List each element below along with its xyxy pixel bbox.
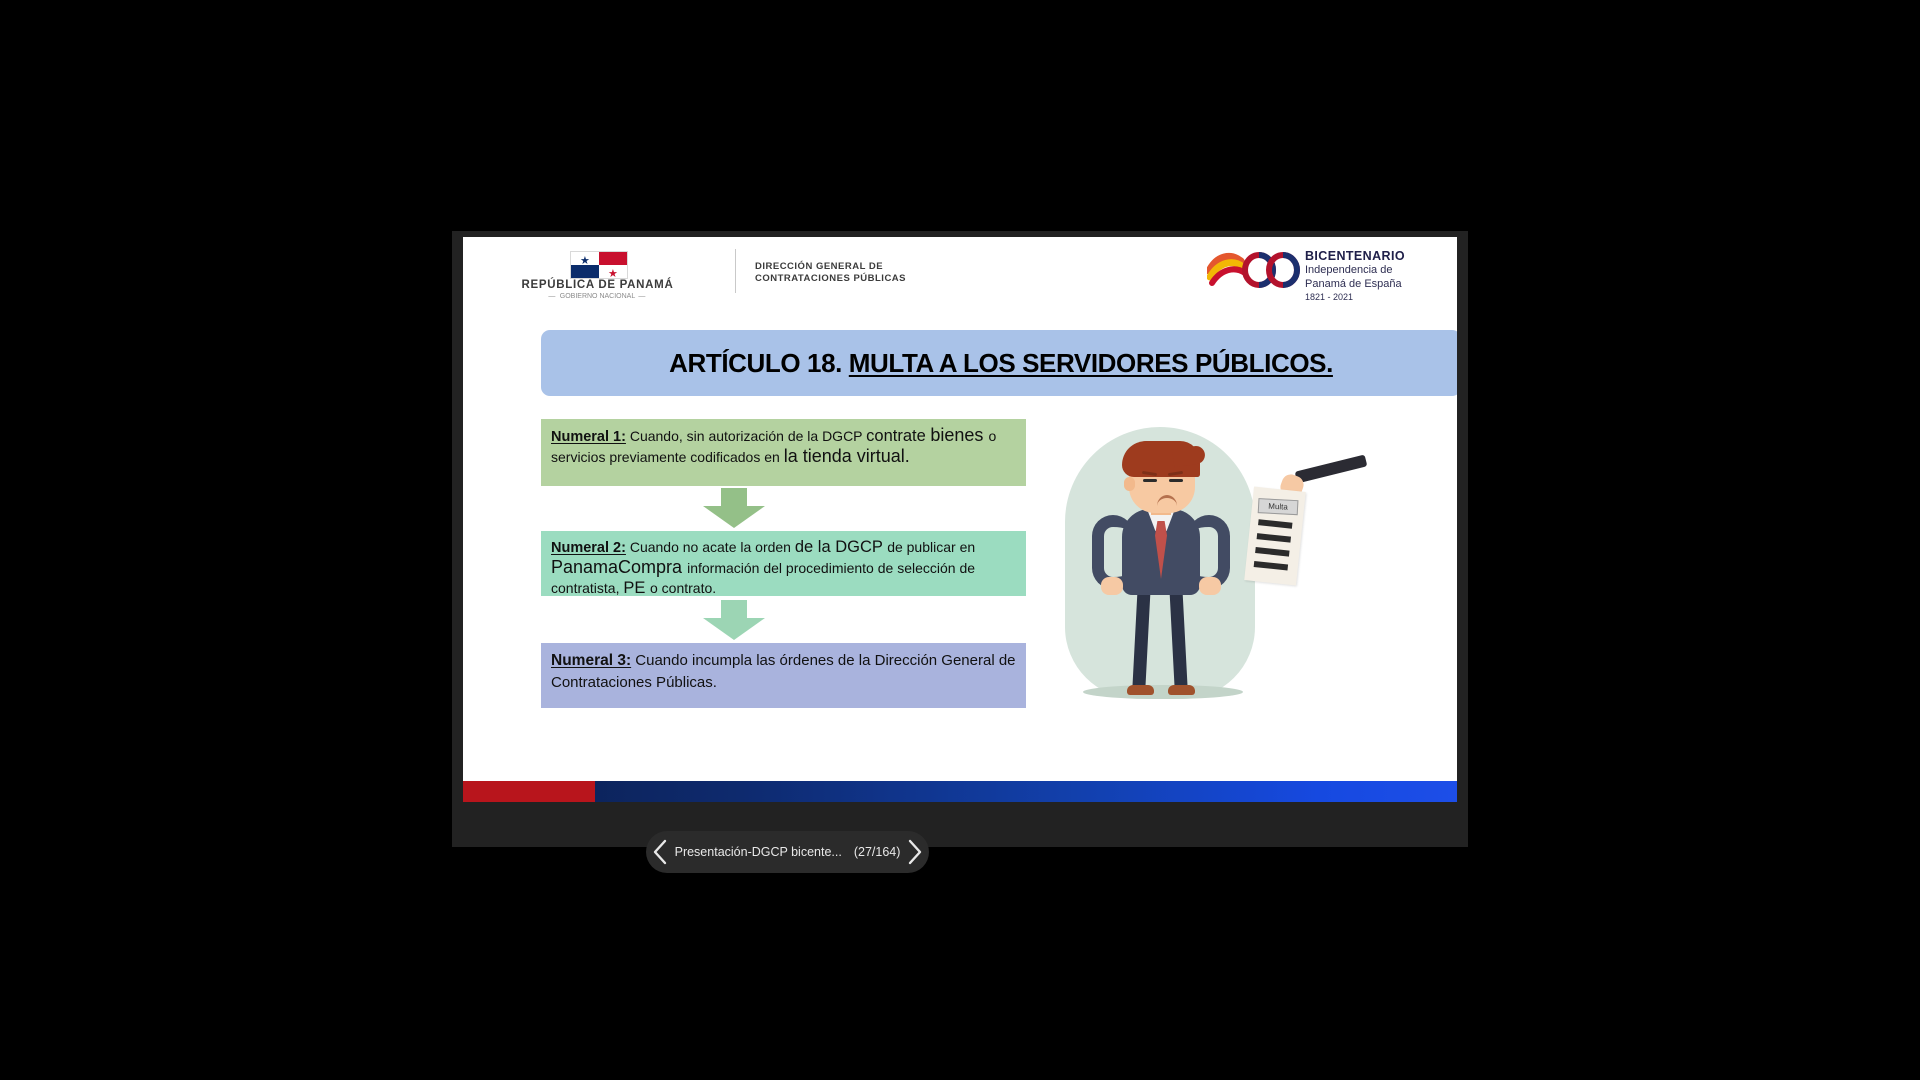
slide-footer-bar bbox=[463, 781, 1457, 802]
panama-government-logo: ★ ★ REPÚBLICA DE PANAMÁ — GOBIERNO NACIO… bbox=[475, 249, 720, 301]
figure-eye-right bbox=[1169, 479, 1183, 482]
next-page-button[interactable] bbox=[900, 831, 929, 873]
bicentenario-years: 1821 - 2021 bbox=[1305, 292, 1405, 302]
agency-line-1: DIRECCIÓN GENERAL DE bbox=[755, 261, 906, 273]
ticket-line-1 bbox=[1258, 519, 1292, 529]
panama-flag-icon: ★ ★ bbox=[570, 251, 628, 279]
illustration-sad-businessman: Multa bbox=[1023, 417, 1353, 732]
slide-header: ★ ★ REPÚBLICA DE PANAMÁ — GOBIERNO NACIO… bbox=[463, 237, 1457, 309]
ticket-multa-label: Multa bbox=[1258, 498, 1299, 515]
figure-shoe-right bbox=[1168, 685, 1195, 695]
figure-ear bbox=[1124, 477, 1135, 491]
agency-name: DIRECCIÓN GENERAL DE CONTRATACIONES PÚBL… bbox=[755, 261, 906, 285]
slide-canvas: ★ ★ REPÚBLICA DE PANAMÁ — GOBIERNO NACIO… bbox=[463, 237, 1457, 802]
figure-hand-left bbox=[1101, 577, 1123, 595]
bicentenario-line-3: Panamá de España bbox=[1305, 278, 1405, 291]
agency-line-2: CONTRATACIONES PÚBLICAS bbox=[755, 273, 906, 285]
bicentenario-ribbon-200-icon bbox=[1207, 245, 1303, 293]
figure-shoe-left bbox=[1127, 685, 1154, 695]
document-title: Presentación-DGCP bicente... bbox=[675, 845, 842, 859]
numeral-box-3: Numeral 3: Cuando incumpla las órdenes d… bbox=[541, 643, 1026, 708]
slide-title-text: ARTÍCULO 18. MULTA A LOS SERVIDORES PÚBL… bbox=[669, 348, 1333, 379]
arrow-down-1-icon bbox=[703, 488, 765, 528]
figure-hand-right bbox=[1199, 577, 1221, 595]
ticket-line-2 bbox=[1257, 533, 1291, 543]
slide-footer-red-block bbox=[463, 781, 595, 802]
header-divider bbox=[735, 249, 736, 293]
figure-shadow bbox=[1083, 685, 1243, 699]
numeral-2-label: Numeral 2: bbox=[551, 540, 626, 556]
previous-page-button[interactable] bbox=[646, 831, 675, 873]
figure-eye-left bbox=[1143, 479, 1157, 482]
ticket-line-3 bbox=[1255, 547, 1289, 557]
bicentenario-title: BICENTENARIO bbox=[1305, 249, 1405, 263]
numeral-box-1: Numeral 1: Cuando, sin autorización de l… bbox=[541, 419, 1026, 486]
viewer-navigation-bar: Presentación-DGCP bicente... (27/164) bbox=[452, 847, 1468, 880]
ticket-line-4 bbox=[1254, 561, 1288, 571]
bicentenario-logo: BICENTENARIO Independencia de Panamá de … bbox=[1207, 245, 1439, 301]
numeral-3-label: Numeral 3: bbox=[551, 652, 631, 669]
navigation-pill: Presentación-DGCP bicente... (27/164) bbox=[646, 831, 929, 873]
numeral-box-2: Numeral 2: Cuando no acate la orden de l… bbox=[541, 531, 1026, 596]
bicentenario-text: BICENTENARIO Independencia de Panamá de … bbox=[1305, 249, 1405, 302]
flag-star-blue-icon: ★ bbox=[580, 256, 590, 267]
republic-name: REPÚBLICA DE PANAMÁ bbox=[475, 279, 720, 291]
officer-arm bbox=[1295, 454, 1368, 483]
republic-subtitle: — GOBIERNO NACIONAL — bbox=[475, 293, 720, 300]
chevron-right-icon bbox=[906, 839, 923, 865]
bicentenario-line-2: Independencia de bbox=[1305, 264, 1405, 277]
chevron-left-icon bbox=[652, 839, 669, 865]
slide-title-banner: ARTÍCULO 18. MULTA A LOS SERVIDORES PÚBL… bbox=[541, 330, 1457, 396]
title-underlined: MULTA A LOS SERVIDORES PÚBLICOS. bbox=[849, 348, 1333, 378]
navigation-label-group: Presentación-DGCP bicente... (27/164) bbox=[675, 845, 901, 859]
page-counter: (27/164) bbox=[854, 845, 901, 859]
app-root: ★ ★ REPÚBLICA DE PANAMÁ — GOBIERNO NACIO… bbox=[0, 0, 1920, 1080]
numeral-1-label: Numeral 1: bbox=[551, 429, 626, 445]
title-plain: ARTÍCULO 18. bbox=[669, 348, 842, 378]
presentation-viewer: ★ ★ REPÚBLICA DE PANAMÁ — GOBIERNO NACIO… bbox=[452, 231, 1468, 847]
arrow-down-2-icon bbox=[703, 600, 765, 640]
fine-ticket: Multa bbox=[1244, 487, 1306, 586]
